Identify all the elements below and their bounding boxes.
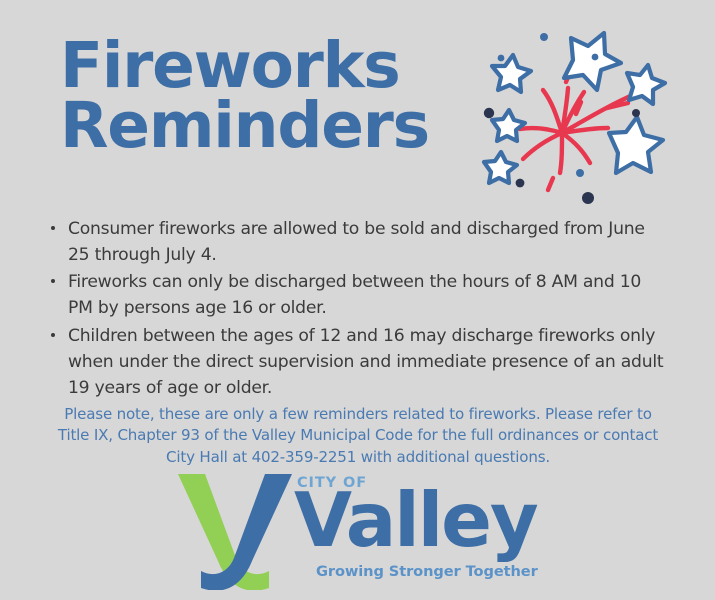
valley-v-logomark (172, 472, 297, 590)
fireworks-reminders-poster: Fireworks Reminders (0, 0, 715, 600)
note-line-1: Please note, these are only a few remind… (42, 404, 674, 425)
logo-wordmark: CITY OF Valley Growing Stronger Together (294, 472, 562, 590)
firework-dot (632, 109, 640, 117)
bullet-dot-icon (51, 279, 55, 283)
title-line-2: Reminders (60, 96, 480, 156)
firework-dot (540, 33, 548, 41)
firework-dot (516, 179, 525, 188)
list-item: Consumer fireworks are allowed to be sol… (48, 216, 668, 268)
reminders-list: Consumer fireworks are allowed to be sol… (48, 216, 668, 402)
fireworks-illustration (470, 18, 700, 213)
list-item-text: Fireworks can only be discharged between… (68, 272, 641, 318)
list-item: Fireworks can only be discharged between… (48, 269, 668, 321)
firework-dot (592, 54, 599, 61)
note-line-3: City Hall at 402-359-2251 with additiona… (42, 447, 674, 468)
city-of-valley-logo: CITY OF Valley Growing Stronger Together (172, 472, 562, 594)
firework-dot (498, 55, 505, 62)
note-line-2: Title IX, Chapter 93 of the Valley Munic… (42, 425, 674, 446)
list-item: Children between the ages of 12 and 16 m… (48, 323, 668, 401)
firework-dot (484, 108, 494, 118)
firework-dot (582, 192, 594, 204)
disclaimer-note: Please note, these are only a few remind… (42, 404, 674, 468)
logo-valley-name: Valley (294, 483, 537, 558)
page-title: Fireworks Reminders (60, 36, 480, 157)
bullet-dot-icon (51, 333, 55, 337)
title-line-1: Fireworks (60, 36, 480, 96)
firework-dot (576, 169, 584, 177)
logo-tagline: Growing Stronger Together (316, 563, 538, 580)
list-item-text: Consumer fireworks are allowed to be sol… (68, 219, 645, 265)
list-item-text: Children between the ages of 12 and 16 m… (68, 326, 663, 398)
bullet-dot-icon (51, 226, 55, 230)
